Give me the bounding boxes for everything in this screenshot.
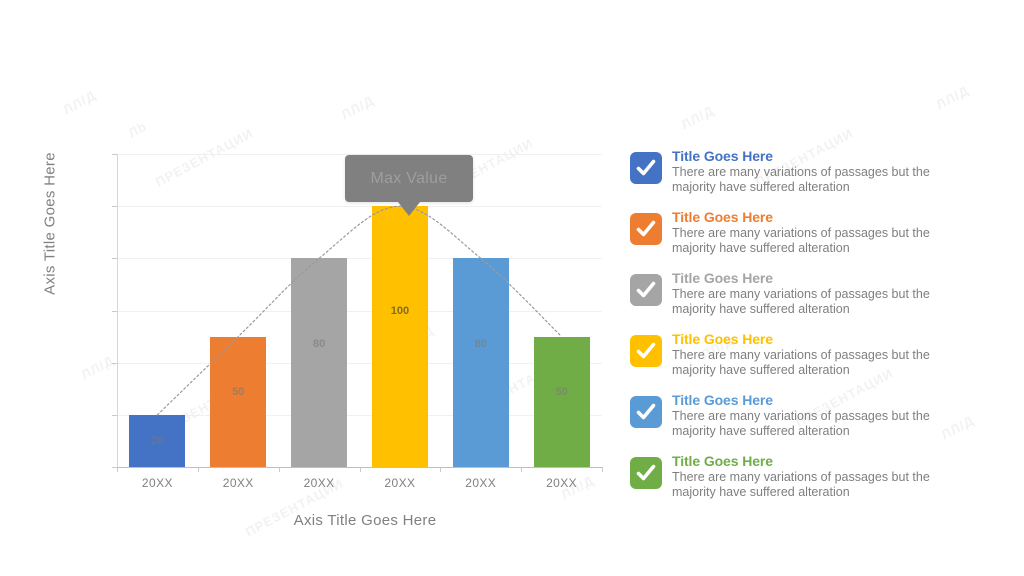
x-tick-mark bbox=[360, 467, 361, 472]
legend-text-block: Title Goes HereThere are many variations… bbox=[672, 270, 1010, 317]
legend-item-description: There are many variations of passages bu… bbox=[672, 470, 972, 500]
legend-item-description: There are many variations of passages bu… bbox=[672, 165, 972, 195]
x-tick-mark bbox=[602, 467, 603, 472]
max-value-callout-label: Max Value bbox=[345, 155, 473, 202]
x-tick-label: 20XX bbox=[440, 476, 521, 490]
x-tick-mark bbox=[198, 467, 199, 472]
legend-item-description: There are many variations of passages bu… bbox=[672, 409, 972, 439]
legend-item-title: Title Goes Here bbox=[672, 331, 1010, 347]
slide-canvas: ЛЛ/ДЛbПРЕЗЕНТАЦИИЛЛ/ДПРЕЗЕНТАЦИИЛЛ/ДПРЕЗ… bbox=[0, 0, 1024, 576]
watermark-text: ЛЛ/Д bbox=[934, 83, 972, 113]
legend-item-title: Title Goes Here bbox=[672, 209, 1010, 225]
x-tick-label: 20XX bbox=[117, 476, 198, 490]
legend-text-block: Title Goes HereThere are many variations… bbox=[672, 453, 1010, 500]
legend-list: Title Goes HereThere are many variations… bbox=[630, 148, 1010, 514]
check-square-icon bbox=[630, 396, 662, 428]
max-value-callout[interactable]: Max Value bbox=[345, 155, 473, 202]
legend-item[interactable]: Title Goes HereThere are many variations… bbox=[630, 331, 1010, 378]
x-tick-mark bbox=[279, 467, 280, 472]
legend-item-title: Title Goes Here bbox=[672, 270, 1010, 286]
legend-item[interactable]: Title Goes HereThere are many variations… bbox=[630, 270, 1010, 317]
legend-item-description: There are many variations of passages bu… bbox=[672, 287, 972, 317]
check-square-icon bbox=[630, 274, 662, 306]
x-tick-mark bbox=[117, 467, 118, 472]
check-square-icon bbox=[630, 335, 662, 367]
x-tick-label: 20XX bbox=[521, 476, 602, 490]
legend-item-title: Title Goes Here bbox=[672, 392, 1010, 408]
legend-item-description: There are many variations of passages bu… bbox=[672, 348, 972, 378]
legend-item-title: Title Goes Here bbox=[672, 148, 1010, 164]
legend-text-block: Title Goes HereThere are many variations… bbox=[672, 148, 1010, 195]
legend-text-block: Title Goes HereThere are many variations… bbox=[672, 331, 1010, 378]
callout-tail-icon bbox=[398, 202, 420, 216]
legend-item-title: Title Goes Here bbox=[672, 453, 1010, 469]
x-tick-mark bbox=[440, 467, 441, 472]
check-square-icon bbox=[630, 152, 662, 184]
x-tick-mark bbox=[521, 467, 522, 472]
legend-item[interactable]: Title Goes HereThere are many variations… bbox=[630, 209, 1010, 256]
y-axis-title: Axis Title Goes Here bbox=[42, 144, 59, 304]
check-square-icon bbox=[630, 457, 662, 489]
bar-chart: Axis Title Goes Here Axis Title Goes Her… bbox=[0, 0, 620, 576]
x-tick-label: 20XX bbox=[279, 476, 360, 490]
check-square-icon bbox=[630, 213, 662, 245]
legend-item-description: There are many variations of passages bu… bbox=[672, 226, 972, 256]
legend-text-block: Title Goes HereThere are many variations… bbox=[672, 209, 1010, 256]
legend-item[interactable]: Title Goes HereThere are many variations… bbox=[630, 453, 1010, 500]
legend-text-block: Title Goes HereThere are many variations… bbox=[672, 392, 1010, 439]
x-axis-title: Axis Title Goes Here bbox=[120, 512, 610, 529]
x-tick-label: 20XX bbox=[360, 476, 441, 490]
legend-item[interactable]: Title Goes HereThere are many variations… bbox=[630, 392, 1010, 439]
legend-item[interactable]: Title Goes HereThere are many variations… bbox=[630, 148, 1010, 195]
x-tick-label: 20XX bbox=[198, 476, 279, 490]
watermark-text: ЛЛ/Д bbox=[679, 103, 717, 133]
